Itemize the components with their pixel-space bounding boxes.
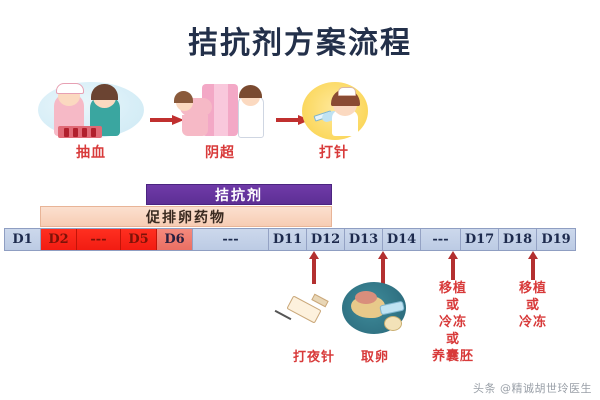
day-cell-label: D11 [273, 232, 302, 247]
injection-illustration [302, 82, 368, 140]
bar-antagonist: 拮抗剂 [146, 184, 332, 205]
step-injection: 打针 [296, 82, 372, 140]
watermark: 头条 @精诚胡世玲医生 [473, 380, 592, 396]
pointer-arrow-d19 [531, 258, 535, 280]
annotation-transfer-d17: 移植 或 冷冻 或 养囊胚 [424, 280, 482, 365]
day-cell-label: D19 [541, 232, 570, 247]
step-blood-draw: 抽血 [36, 82, 146, 140]
top-steps-row: 抽血 阴超 打针 [0, 82, 600, 168]
day-cell-gapgapgap: --- [77, 229, 121, 250]
infographic-root: 拮抗剂方案流程 抽血 阴超 [0, 0, 600, 400]
day-cell-D11: D11 [269, 229, 307, 250]
annotation-trigger-shot: 打夜针 [286, 350, 342, 366]
day-cell-D14: D14 [383, 229, 421, 250]
syringe-illustration [272, 292, 328, 326]
step-ultrasound: 阴超 [168, 82, 272, 140]
pointer-arrow-d17 [451, 258, 455, 280]
day-cell-label: D2 [48, 232, 68, 247]
annotation-line: 移植 [504, 280, 562, 297]
day-cell-label: --- [432, 232, 448, 247]
day-cell-D5: D5 [121, 229, 157, 250]
step-label-injection: 打针 [296, 142, 372, 162]
annotation-line: 冷冻 [424, 314, 482, 331]
day-timeline: D1D2---D5D6---D11D12D13D14---D17D18D19 [4, 228, 576, 251]
annotation-line: 或 [424, 297, 482, 314]
annotation-line: 或 [504, 297, 562, 314]
bar-label-ovulation-drugs: 促排卵药物 [146, 207, 226, 227]
page-title: 拮抗剂方案流程 [0, 18, 600, 62]
day-cell-D6: D6 [157, 229, 193, 250]
day-cell-label: D6 [164, 232, 184, 247]
step-label-ultrasound: 阴超 [168, 142, 272, 162]
day-cell-gapgapgap: --- [193, 229, 269, 250]
day-cell-label: --- [90, 232, 106, 247]
day-cell-D2: D2 [41, 229, 77, 250]
pointer-arrow-d14 [381, 258, 385, 284]
day-cell-label: D18 [503, 232, 532, 247]
day-cell-D17: D17 [461, 229, 499, 250]
day-cell-label: D5 [128, 232, 148, 247]
day-cell-D1: D1 [5, 229, 41, 250]
annotation-line: 移植 [424, 280, 482, 297]
pointer-arrow-d12 [312, 258, 316, 284]
day-cell-D18: D18 [499, 229, 537, 250]
egg-retrieval-illustration [342, 282, 406, 334]
bar-ovulation-drugs: 促排卵药物 [40, 206, 332, 227]
day-cell-D13: D13 [345, 229, 383, 250]
bar-label-antagonist: 拮抗剂 [215, 185, 263, 205]
blood-draw-illustration [38, 82, 144, 138]
day-cell-label: D14 [387, 232, 416, 247]
annotation-line: 冷冻 [504, 314, 562, 331]
day-cell-label: D1 [12, 232, 32, 247]
day-cell-label: D12 [311, 232, 340, 247]
annotation-line: 或 [424, 331, 482, 348]
day-cell-D19: D19 [537, 229, 575, 250]
day-cell-gapgapgap: --- [421, 229, 461, 250]
day-cell-label: --- [222, 232, 238, 247]
annotation-line: 养囊胚 [424, 348, 482, 365]
day-cell-label: D13 [349, 232, 378, 247]
annotation-egg-retrieval: 取卵 [352, 350, 398, 366]
day-cell-label: D17 [465, 232, 494, 247]
day-cell-D12: D12 [307, 229, 345, 250]
annotation-transfer-d19: 移植 或 冷冻 [504, 280, 562, 331]
step-label-blood-draw: 抽血 [36, 142, 146, 162]
